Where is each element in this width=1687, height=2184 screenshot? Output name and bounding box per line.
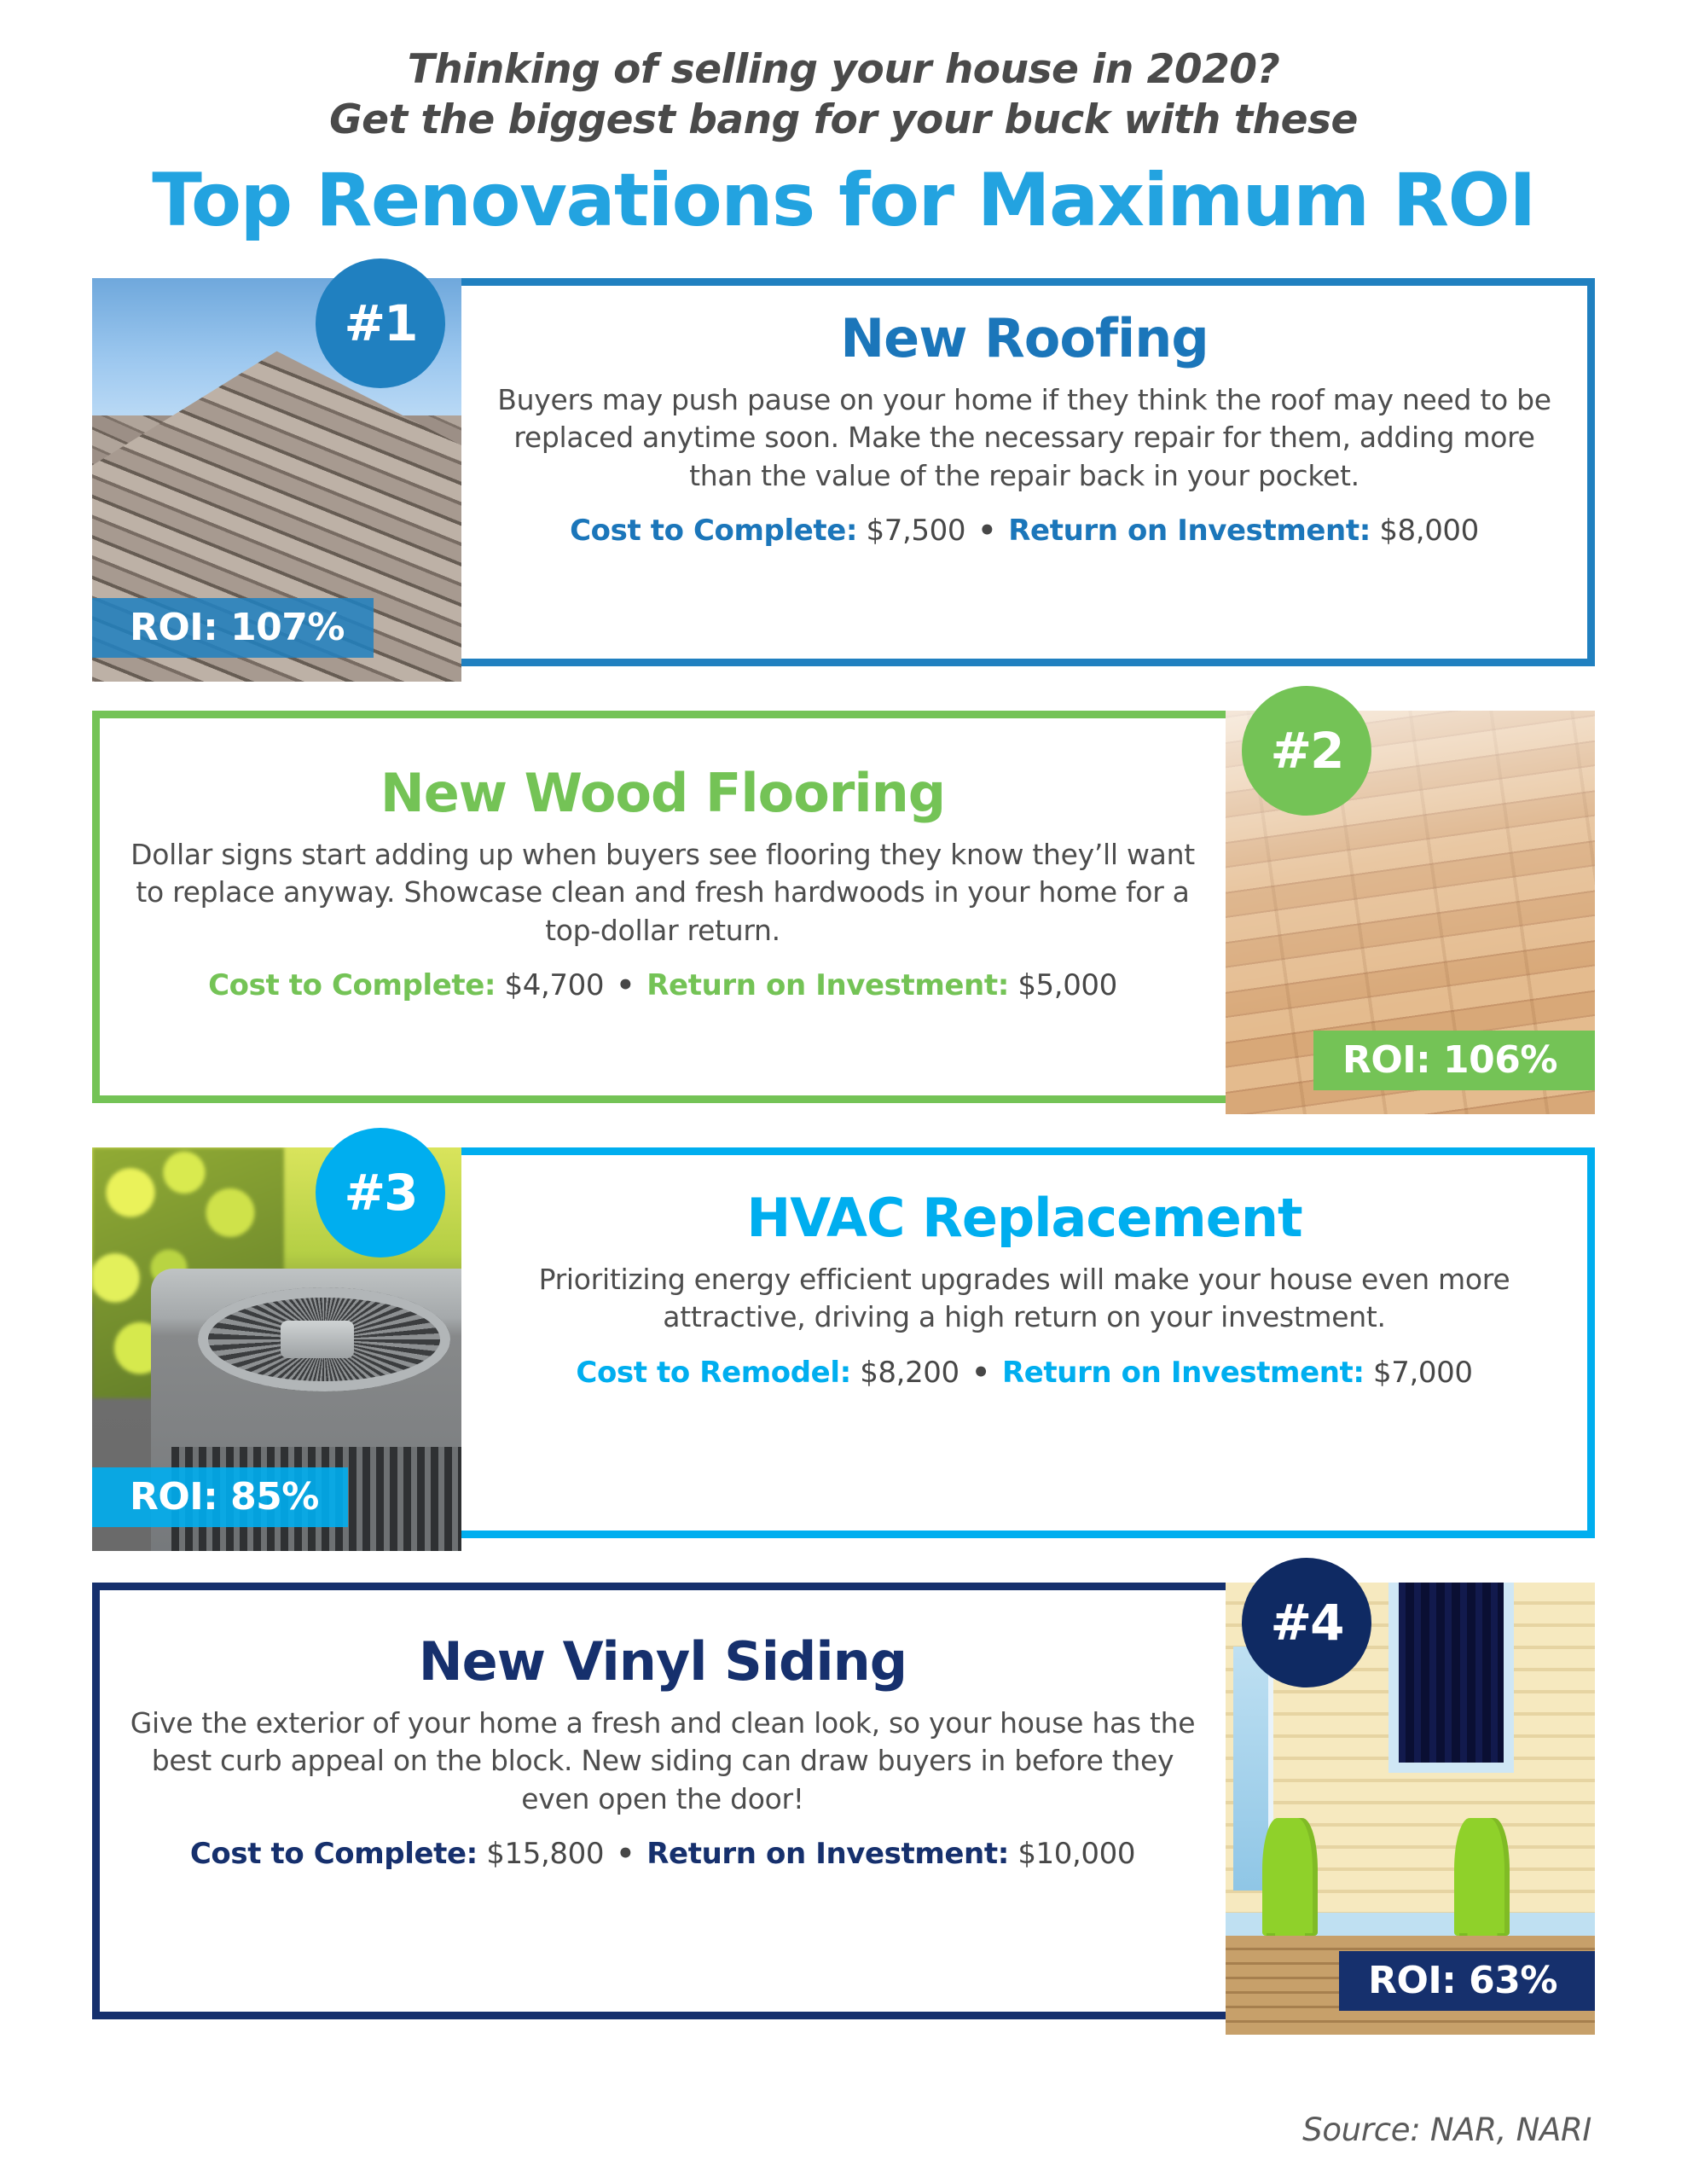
roi-label-4: Return on Investment: [646, 1837, 1009, 1871]
roi-value-1: $8,000 [1379, 514, 1479, 548]
cost-label-3: Cost to Remodel: [576, 1356, 850, 1390]
card-title-4: New Vinyl Siding [129, 1631, 1197, 1692]
stats-separator-3: • [968, 1356, 993, 1390]
roi-banner-3: ROI: 85% [92, 1467, 348, 1527]
rank-badge-3: #3 [316, 1128, 445, 1258]
cost-value-1: $7,500 [867, 514, 966, 548]
card-body-4: New Vinyl Siding Give the exterior of yo… [100, 1590, 1226, 2012]
rank-badge-4: #4 [1242, 1558, 1371, 1687]
cost-label-2: Cost to Complete: [208, 968, 496, 1002]
card-stats-2: Cost to Complete: $4,700 • Return on Inv… [129, 968, 1197, 1002]
card-description-4: Give the exterior of your home a fresh a… [129, 1705, 1197, 1819]
cost-value-3: $8,200 [860, 1356, 959, 1390]
hvac-hub-shape [281, 1321, 354, 1357]
roi-value-2: $5,000 [1017, 968, 1117, 1002]
card-title-2: New Wood Flooring [129, 763, 1197, 823]
roi-banner-1: ROI: 107% [92, 598, 374, 658]
card-title-3: HVAC Replacement [490, 1188, 1558, 1248]
roi-banner-4: ROI: 63% [1339, 1951, 1595, 2011]
roi-value-4: $10,000 [1017, 1837, 1135, 1871]
green-chair-right-shape [1454, 1818, 1510, 1936]
roi-label-2: Return on Investment: [646, 968, 1009, 1002]
card-body-3: HVAC Replacement Prioritizing energy eff… [461, 1155, 1587, 1531]
rank-badge-2: #2 [1242, 686, 1371, 816]
kicker-line-1: Thinking of selling your house in 2020? [0, 44, 1687, 95]
stats-separator-1: • [975, 514, 1000, 548]
cost-label-1: Cost to Complete: [570, 514, 857, 548]
source-attribution: Source: NAR, NARI [1302, 2111, 1591, 2148]
roi-value-3: $7,000 [1373, 1356, 1473, 1390]
renovation-card-3[interactable]: ROI: 85% #3 HVAC Replacement Prioritizin… [92, 1147, 1595, 1538]
window-shape [1388, 1583, 1514, 1773]
stats-separator-4: • [613, 1837, 638, 1871]
card-description-1: Buyers may push pause on your home if th… [490, 381, 1558, 496]
card-description-3: Prioritizing energy efficient upgrades w… [490, 1261, 1558, 1337]
infographic-page: Thinking of selling your house in 2020? … [0, 0, 1687, 2184]
card-stats-3: Cost to Remodel: $8,200 • Return on Inve… [490, 1356, 1558, 1390]
renovation-card-4[interactable]: ROI: 63% #4 New Vinyl Siding Give the ex… [92, 1583, 1595, 2019]
green-chair-left-shape [1262, 1818, 1318, 1936]
page-title: Top Renovations for Maximum ROI [0, 164, 1687, 237]
roi-banner-2: ROI: 106% [1313, 1031, 1595, 1090]
cost-label-4: Cost to Complete: [190, 1837, 478, 1871]
cost-value-2: $4,700 [505, 968, 605, 1002]
cost-value-4: $15,800 [486, 1837, 604, 1871]
header: Thinking of selling your house in 2020? … [0, 0, 1687, 237]
card-stats-1: Cost to Complete: $7,500 • Return on Inv… [490, 514, 1558, 548]
roi-label-1: Return on Investment: [1008, 514, 1371, 548]
rank-badge-1: #1 [316, 258, 445, 388]
renovation-card-1[interactable]: ROI: 107% #1 New Roofing Buyers may push… [92, 278, 1595, 666]
roi-label-3: Return on Investment: [1002, 1356, 1365, 1390]
card-stats-4: Cost to Complete: $15,800 • Return on In… [129, 1837, 1197, 1871]
card-body-1: New Roofing Buyers may push pause on you… [461, 286, 1587, 659]
stats-separator-2: • [613, 968, 638, 1002]
renovation-card-2[interactable]: ROI: 106% #2 New Wood Flooring Dollar si… [92, 711, 1595, 1103]
kicker-line-2: Get the biggest bang for your buck with … [0, 95, 1687, 145]
card-title-1: New Roofing [490, 308, 1558, 369]
card-description-2: Dollar signs start adding up when buyers… [129, 836, 1197, 950]
renovation-cards-list: ROI: 107% #1 New Roofing Buyers may push… [0, 278, 1687, 2019]
card-body-2: New Wood Flooring Dollar signs start add… [100, 718, 1226, 1095]
